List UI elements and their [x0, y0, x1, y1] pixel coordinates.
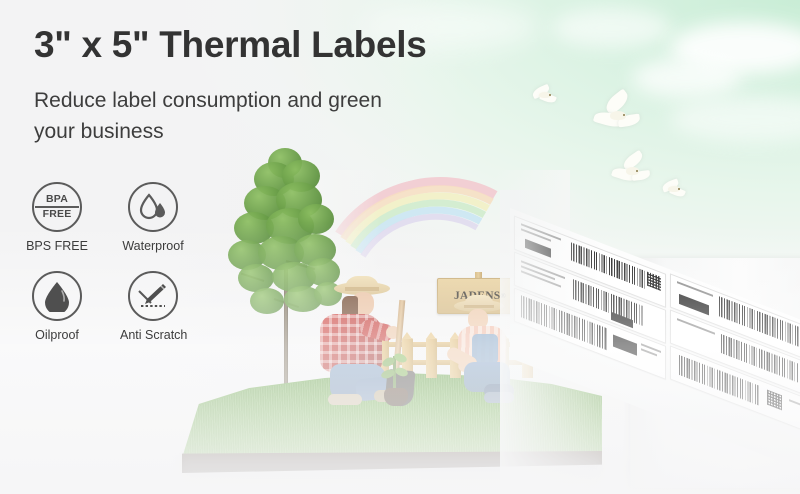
feature-badge-row: Oilproof Anti Scratch [24, 271, 214, 342]
feature-label: Waterproof [120, 239, 186, 253]
pen-scratch-icon [128, 271, 178, 321]
bpa-free-icon: BPA FREE [32, 182, 82, 232]
page-subtitle: Reduce label consumption and green your … [34, 85, 394, 147]
feature-badge-waterproof[interactable]: Waterproof [120, 182, 186, 253]
water-drop-icon [128, 182, 178, 232]
bpa-icon-bottom-text: FREE [35, 209, 79, 220]
feature-badge-row: BPA FREE BPS FREE Waterproof [24, 182, 214, 253]
feature-badge-oilproof[interactable]: Oilproof [24, 271, 90, 342]
page-title: 3" x 5" Thermal Labels [34, 24, 427, 66]
product-banner: JADENS® [0, 0, 800, 494]
feature-badge-bps-free[interactable]: BPA FREE BPS FREE [24, 182, 90, 253]
feature-label: BPS FREE [24, 239, 90, 253]
bpa-icon-top-text: BPA [35, 194, 79, 205]
feature-label: Anti Scratch [120, 328, 186, 342]
feature-badge-group: BPA FREE BPS FREE Waterproof [24, 182, 214, 360]
feature-badge-anti-scratch[interactable]: Anti Scratch [120, 271, 186, 342]
feature-label: Oilproof [24, 328, 90, 342]
oil-drop-icon [32, 271, 82, 321]
